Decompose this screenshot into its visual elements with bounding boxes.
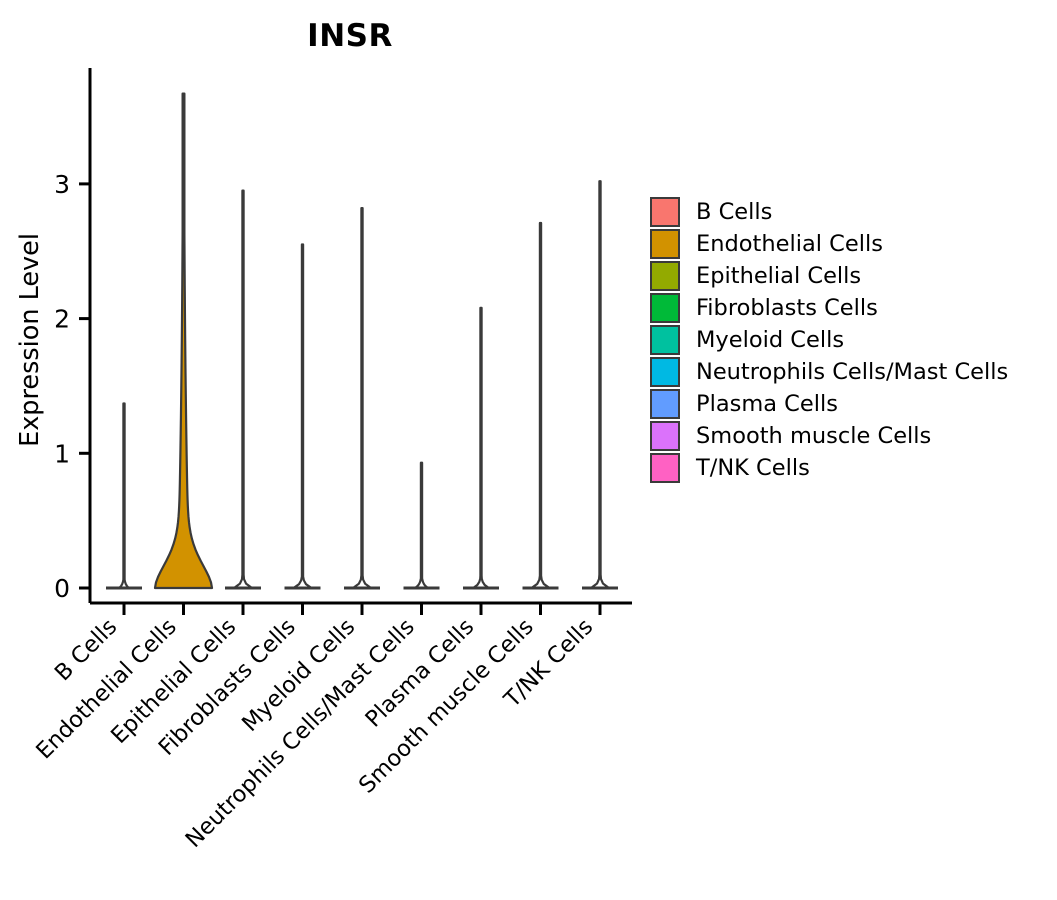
legend-item-label: Epithelial Cells [696,265,861,288]
violin-body [155,94,212,588]
violin-8 [523,223,559,588]
legend-color-swatch [650,389,680,419]
y-axis-tick-label: 3 [54,170,70,199]
violin-body [234,191,252,588]
legend-color-swatch [650,453,680,483]
legend-item-label: T/NK Cells [696,457,810,480]
legend-item[interactable]: Fibroblasts Cells [650,292,1008,324]
legend: B CellsEndothelial CellsEpithelial Cells… [650,196,1008,484]
legend-color-swatch [650,325,680,355]
y-axis-tick-label: 0 [54,574,70,603]
legend-color-swatch [650,293,680,323]
legend-item[interactable]: Smooth muscle Cells [650,420,1008,452]
violin-body [532,223,550,588]
legend-item-label: B Cells [696,201,772,224]
violin-body [353,208,371,588]
violin-body [294,245,312,588]
legend-color-swatch [650,421,680,451]
violin-body [591,181,609,588]
legend-item-label: Neutrophils Cells/Mast Cells [696,361,1008,384]
legend-item-label: Plasma Cells [696,393,838,416]
violin-9 [582,181,618,588]
legend-color-swatch [650,357,680,387]
legend-item-label: Smooth muscle Cells [696,425,931,448]
legend-color-swatch [650,197,680,227]
violin-1 [106,403,142,588]
violin-body [473,308,489,588]
legend-item[interactable]: Neutrophils Cells/Mast Cells [650,356,1008,388]
legend-item-label: Myeloid Cells [696,329,844,352]
y-axis-tick-label: 1 [54,439,70,468]
violin-4 [285,245,321,588]
axes-layer [79,68,632,615]
legend-color-swatch [650,229,680,259]
violin-plot-figure: INSR 0123B CellsEndothelial CellsEpithel… [0,0,1057,900]
violins-layer [106,94,618,588]
legend-item[interactable]: Plasma Cells [650,388,1008,420]
legend-item[interactable]: T/NK Cells [650,452,1008,484]
violin-6 [404,463,440,588]
legend-item[interactable]: Endothelial Cells [650,228,1008,260]
legend-item-label: Fibroblasts Cells [696,297,878,320]
violin-5 [344,208,380,588]
y-axis-title: Expression Level [15,233,45,447]
axis-labels-layer: 0123B CellsEndothelial CellsEpithelial C… [15,170,598,853]
legend-item[interactable]: Epithelial Cells [650,260,1008,292]
legend-item-label: Endothelial Cells [696,233,883,256]
legend-item[interactable]: Myeloid Cells [650,324,1008,356]
violin-body [119,403,129,588]
legend-item[interactable]: B Cells [650,196,1008,228]
violin-2 [155,94,212,588]
violin-body [415,463,428,588]
y-axis-tick-label: 2 [54,305,70,334]
violin-7 [463,308,499,588]
violin-3 [225,191,261,588]
legend-color-swatch [650,261,680,291]
